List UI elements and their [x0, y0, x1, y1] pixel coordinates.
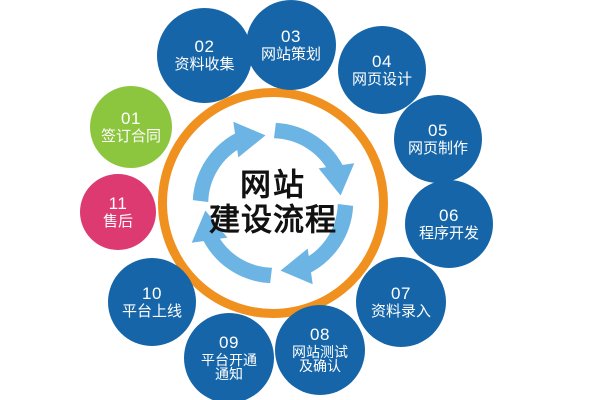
center-title-line2: 建设流程	[158, 203, 388, 238]
step-node-05[interactable]: 05网页制作	[394, 95, 482, 183]
process-diagram: 网站 建设流程 01签订合同02资料收集03网站策划04网页设计05网页制作06…	[0, 0, 600, 400]
center-title-line1: 网站	[158, 168, 388, 203]
step-number: 08	[310, 326, 330, 344]
step-label: 签订合同	[101, 129, 161, 145]
center-cycle: 网站 建设流程	[158, 88, 388, 318]
step-number: 11	[109, 195, 128, 213]
step-number: 07	[391, 285, 411, 303]
watermark	[430, 368, 590, 392]
step-node-02[interactable]: 02资料收集	[157, 8, 252, 103]
center-title: 网站 建设流程	[158, 168, 388, 237]
step-number: 06	[439, 207, 459, 225]
step-number: 04	[372, 53, 392, 71]
step-node-03[interactable]: 03网站策划	[246, 0, 336, 90]
step-node-07[interactable]: 07资料录入	[356, 257, 446, 347]
step-number: 09	[219, 334, 239, 352]
step-number: 10	[142, 285, 162, 303]
step-label: 平台上线	[122, 304, 182, 320]
step-label: 通知	[215, 367, 243, 382]
step-node-11[interactable]: 11售后	[80, 174, 156, 250]
step-label: 网页设计	[352, 72, 412, 88]
step-node-06[interactable]: 06程序开发	[405, 180, 493, 268]
step-label: 资料收集	[174, 57, 234, 73]
step-node-09[interactable]: 09平台开通通知	[184, 313, 274, 400]
step-number: 01	[121, 110, 141, 128]
step-node-04[interactable]: 04网页设计	[338, 26, 426, 114]
step-label: 程序开发	[419, 226, 479, 242]
step-label: 网站策划	[261, 47, 321, 63]
step-label: 网站测试	[292, 345, 348, 360]
step-number: 02	[195, 38, 215, 56]
step-node-08[interactable]: 08网站测试及确认	[275, 305, 365, 395]
step-label: 网页制作	[408, 141, 468, 157]
step-label: 售后	[103, 214, 133, 230]
step-node-01[interactable]: 01签订合同	[90, 86, 172, 168]
step-number: 05	[428, 122, 448, 140]
step-number: 03	[281, 28, 301, 46]
step-label: 及确认	[299, 359, 341, 374]
step-node-10[interactable]: 10平台上线	[108, 258, 196, 346]
step-label: 平台开通	[201, 353, 257, 368]
step-label: 资料录入	[371, 304, 431, 320]
